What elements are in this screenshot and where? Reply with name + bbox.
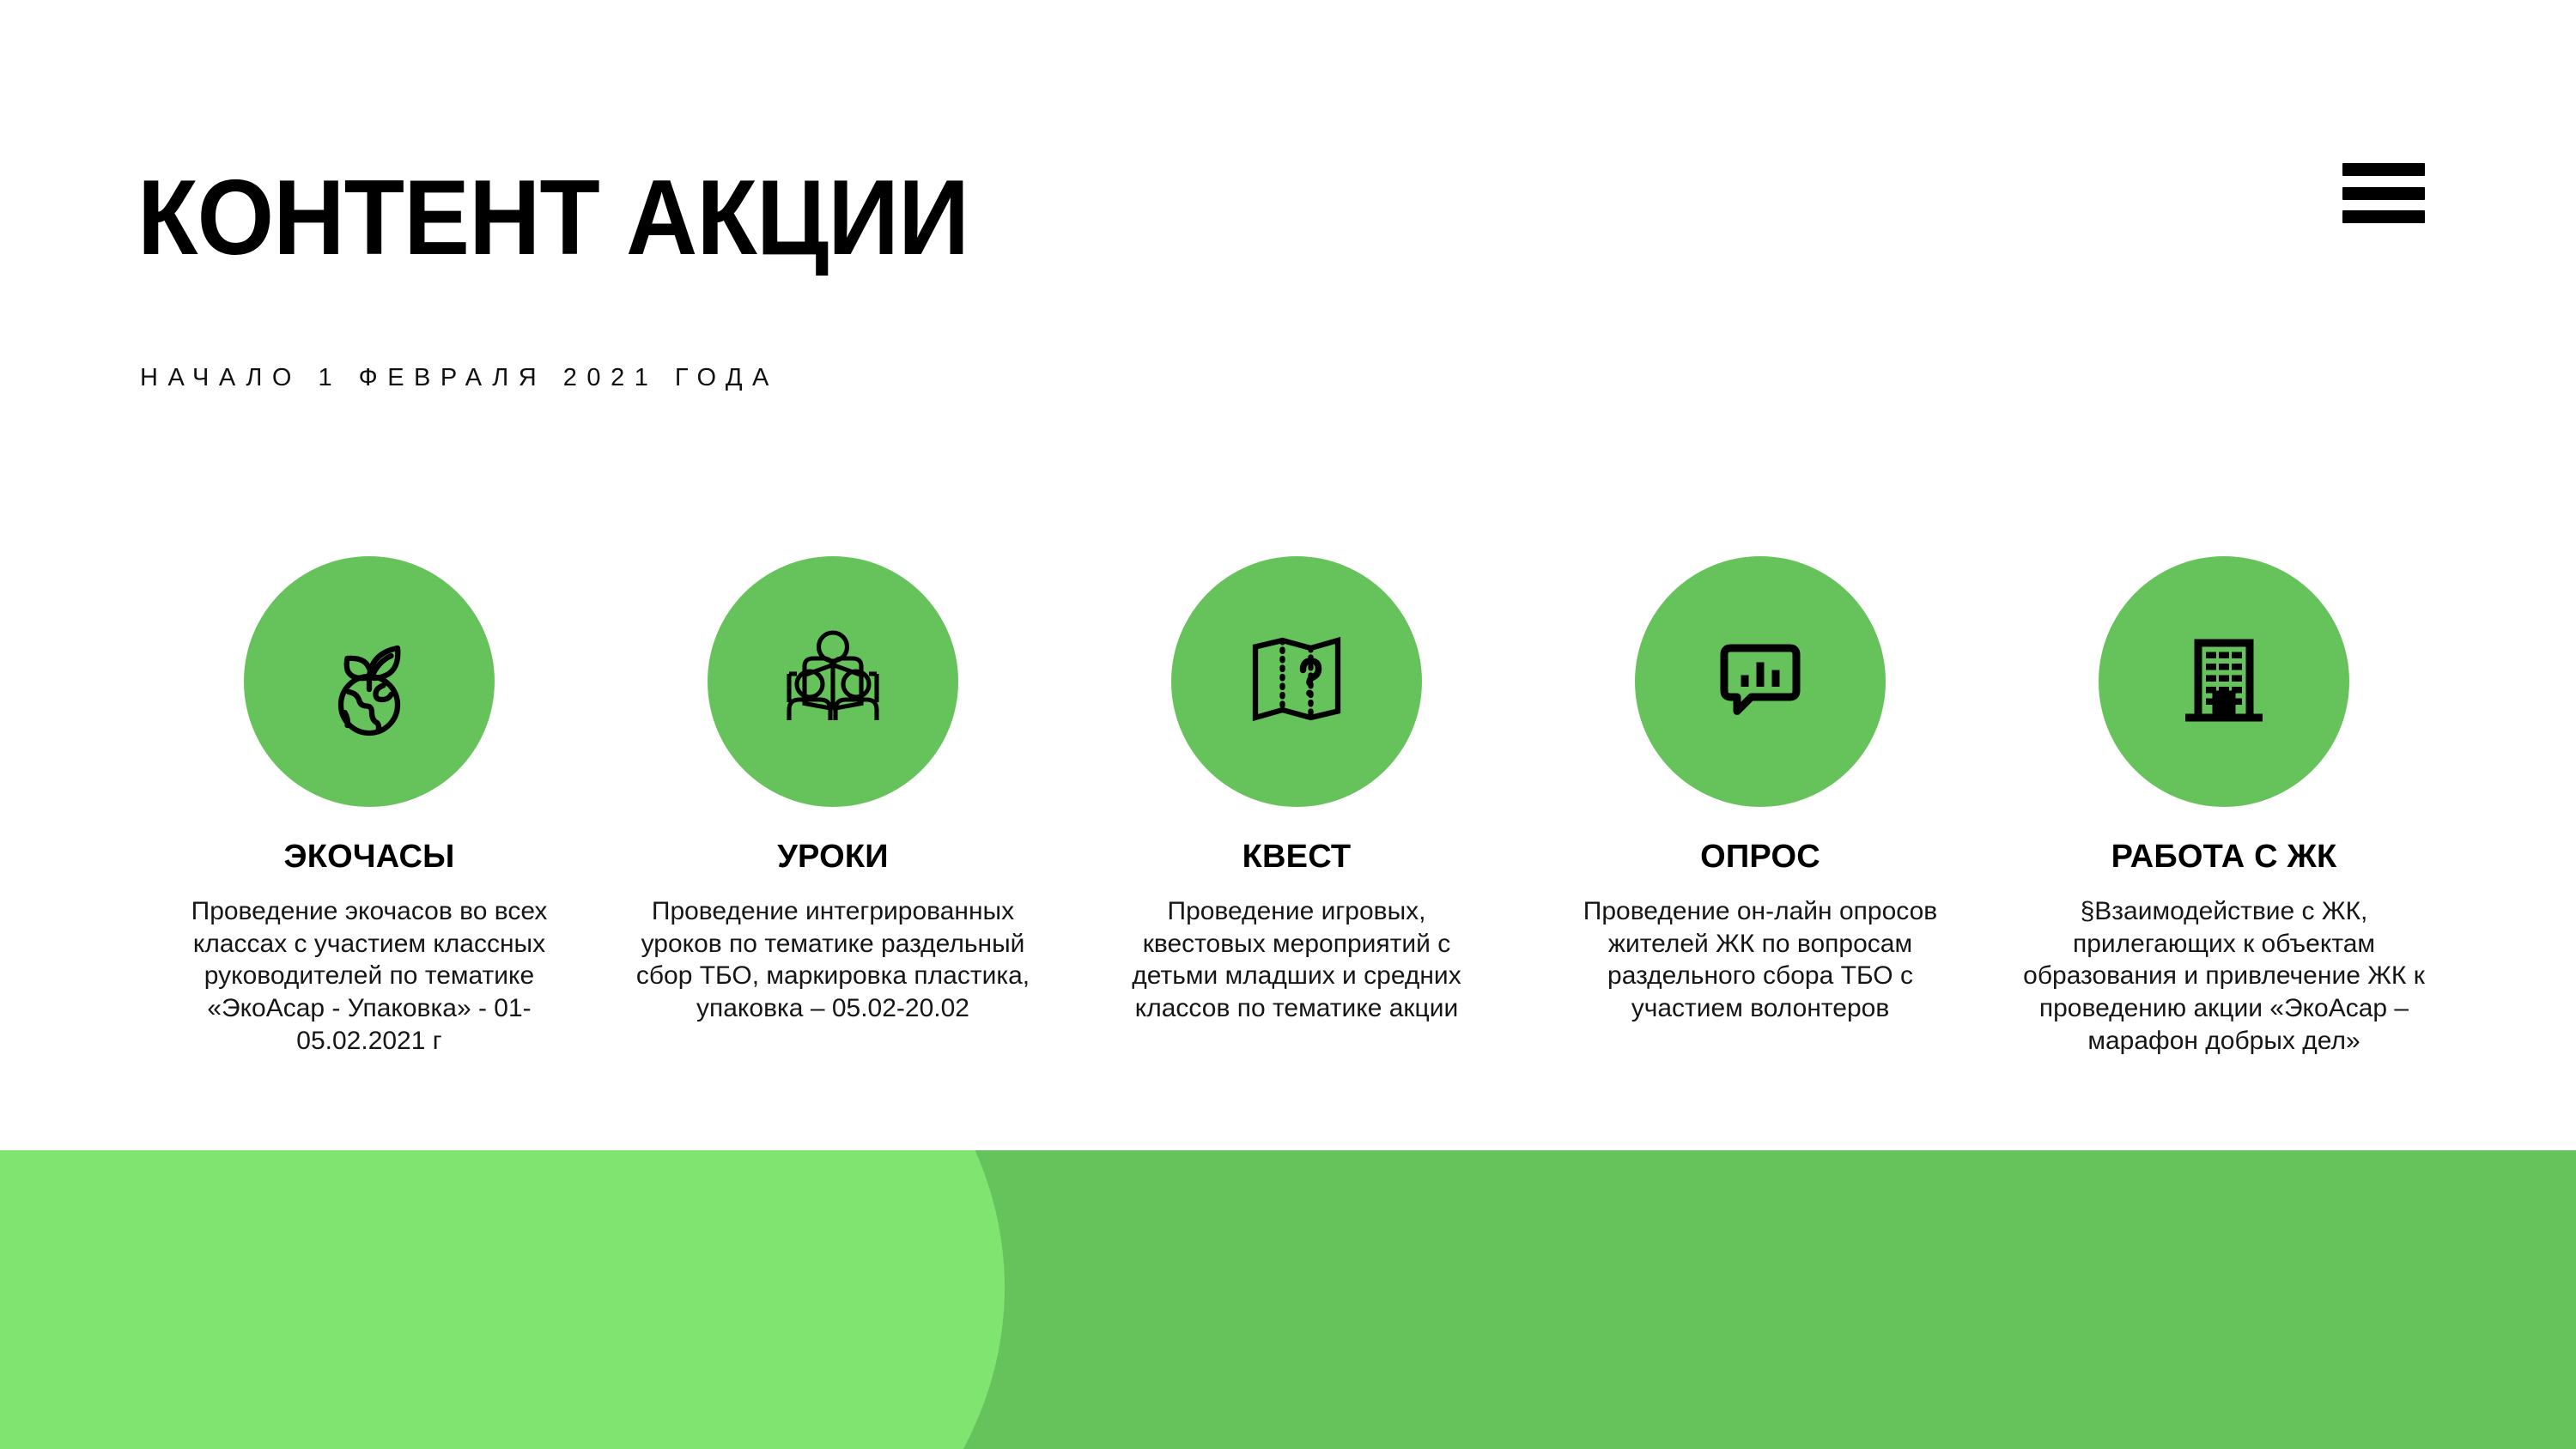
content-card-ecohours[interactable]: ЭКОЧАСЫ Проведение экочасов во всех клас… xyxy=(137,556,601,1058)
hamburger-menu-icon-bar-1 xyxy=(2342,163,2425,176)
card-title: ЭКОЧАСЫ xyxy=(283,840,454,876)
icon-circle-residential xyxy=(2099,556,2349,807)
card-body: §Взаимодействие с ЖК, прилегающих к объе… xyxy=(2005,895,2443,1058)
hamburger-menu-button[interactable] xyxy=(2342,163,2425,223)
slide-root: КОНТЕНТ АКЦИИ НАЧАЛО 1 ФЕВРАЛЯ 2021 ГОДА xyxy=(0,0,2576,1449)
hamburger-menu-icon-bar-3 xyxy=(2342,210,2425,223)
icon-circle-quest xyxy=(1171,556,1422,807)
content-cards-row: ЭКОЧАСЫ Проведение экочасов во всех клас… xyxy=(137,556,2456,1058)
card-title: РАБОТА С ЖК xyxy=(2111,840,2337,876)
card-title: КВЕСТ xyxy=(1242,840,1352,876)
icon-circle-lessons xyxy=(708,556,958,807)
card-body: Проведение интегрированных уроков по тем… xyxy=(610,895,1056,1025)
earth-sprout-icon xyxy=(305,617,434,746)
card-title: УРОКИ xyxy=(777,840,889,876)
map-question-icon xyxy=(1232,617,1361,746)
page-subtitle: НАЧАЛО 1 ФЕВРАЛЯ 2021 ГОДА xyxy=(140,364,779,392)
hamburger-menu-icon-bar-2 xyxy=(2342,187,2425,200)
card-body: Проведение экочасов во всех классах с уч… xyxy=(167,895,571,1058)
teacher-students-book-icon xyxy=(769,617,897,746)
survey-chat-chart-icon xyxy=(1696,617,1825,746)
light-green-circle-decoration xyxy=(0,1150,1005,1449)
page-title: КОНТЕНТ АКЦИИ xyxy=(137,165,969,271)
card-title: ОПРОС xyxy=(1700,840,1820,876)
content-card-survey[interactable]: ОПРОС Проведение он-лайн опросов жителей… xyxy=(1528,556,1992,1025)
card-body: Проведение игровых, квестовых мероприяти… xyxy=(1116,895,1477,1025)
content-card-lessons[interactable]: УРОКИ Проведение интегрированных уроков … xyxy=(601,556,1065,1025)
content-card-residential[interactable]: РАБОТА С ЖК §Взаимодействие с ЖК, прилег… xyxy=(1992,556,2456,1058)
apartment-building-icon xyxy=(2160,617,2288,746)
icon-circle-ecohours xyxy=(244,556,495,807)
bottom-green-band xyxy=(0,1150,2576,1449)
content-card-quest[interactable]: КВЕСТ Проведение игровых, квестовых меро… xyxy=(1065,556,1528,1025)
icon-circle-survey xyxy=(1635,556,1886,807)
card-body: Проведение он-лайн опросов жителей ЖК по… xyxy=(1580,895,1941,1025)
